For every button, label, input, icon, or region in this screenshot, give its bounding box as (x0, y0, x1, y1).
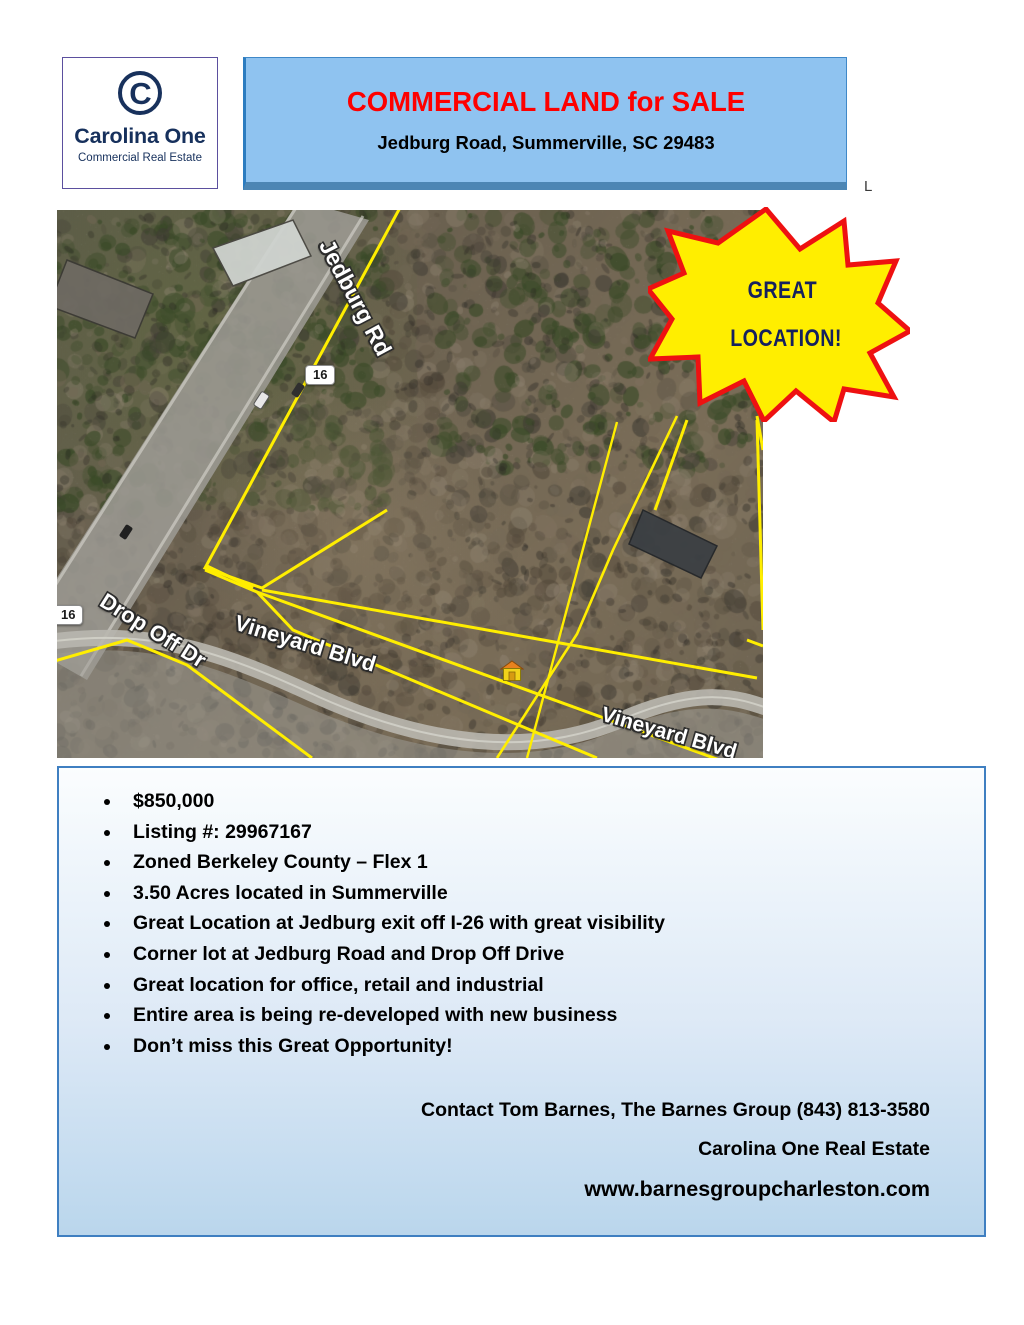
starburst-shape (648, 207, 910, 422)
header-banner: COMMERCIAL LAND for SALE Jedburg Road, S… (243, 57, 847, 190)
list-item: Great Location at Jedburg exit off I-26 … (85, 908, 958, 939)
page-title: COMMERCIAL LAND for SALE (347, 86, 745, 118)
contact-agent-line: Contact Tom Barnes, The Barnes Group (84… (85, 1099, 930, 1122)
list-item: $850,000 (85, 786, 958, 817)
house-icon[interactable] (500, 660, 524, 682)
carolina-one-c-icon: C (118, 71, 162, 115)
list-item: Corner lot at Jedburg Road and Drop Off … (85, 939, 958, 970)
brand-name: Carolina One (74, 124, 205, 149)
list-item: Listing #: 29967167 (85, 817, 958, 848)
property-details-box: $850,000 Listing #: 29967167 Zoned Berke… (57, 766, 986, 1237)
list-item: 3.50 Acres located in Summerville (85, 878, 958, 909)
route-shield-16-north: 16 (305, 365, 335, 385)
route-shield-16-west: 16 (57, 605, 83, 625)
list-item: Zoned Berkeley County – Flex 1 (85, 847, 958, 878)
contact-brokerage-line: Carolina One Real Estate (85, 1138, 930, 1161)
contact-website-link[interactable]: www.barnesgroupcharleston.com (85, 1177, 930, 1202)
brand-logo-box: C Carolina One Commercial Real Estate (62, 57, 218, 189)
list-item: Don’t miss this Great Opportunity! (85, 1031, 958, 1062)
list-item: Entire area is being re-developed with n… (85, 1000, 958, 1031)
stray-character: L (864, 178, 872, 195)
property-address: Jedburg Road, Summerville, SC 29483 (377, 132, 714, 154)
brand-tagline: Commercial Real Estate (78, 152, 202, 164)
list-item: Great location for office, retail and in… (85, 970, 958, 1001)
great-location-starburst: GREAT LOCATION! (648, 207, 910, 422)
contact-block: Contact Tom Barnes, The Barnes Group (84… (85, 1099, 958, 1202)
property-bullet-list: $850,000 Listing #: 29967167 Zoned Berke… (85, 786, 958, 1061)
